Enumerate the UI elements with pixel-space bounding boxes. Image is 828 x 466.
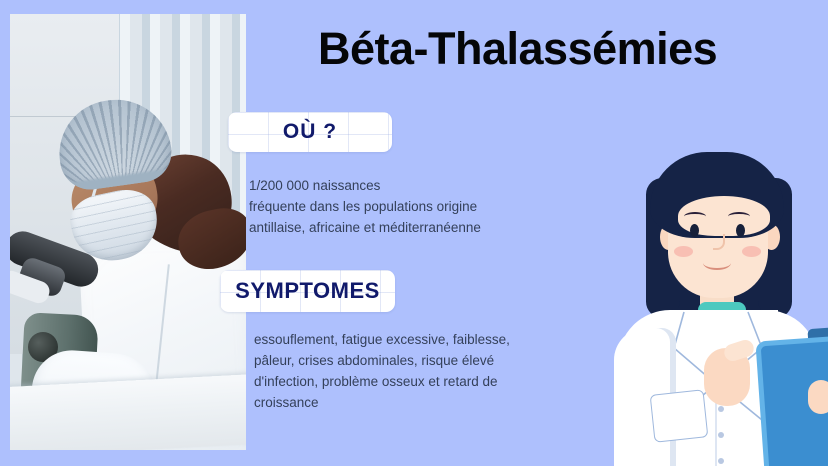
section-text-ou: 1/200 000 naissances fréquente dans les … [249, 176, 549, 239]
doctor-thumb [808, 380, 828, 414]
section-label-symptomes: SYMPTOMES [220, 270, 395, 312]
lab-scientist-photo [10, 14, 246, 450]
section-label-symptomes-text: SYMPTOMES [235, 278, 380, 304]
section-text-symptomes: essouflement, fatigue excessive, faibles… [254, 330, 554, 414]
page-title: Béta-Thalassémies [318, 24, 818, 74]
section-label-ou: OÙ ? [228, 112, 392, 152]
photo-hair-net-cap [53, 93, 176, 194]
section-label-ou-text: OÙ ? [283, 120, 337, 144]
female-doctor-illustration [612, 152, 828, 466]
photo-lab-table [10, 373, 246, 450]
doctor-sleeve-cuff [650, 389, 709, 442]
slide-canvas: Béta-Thalassémies OÙ ? 1/200 000 naissan… [0, 0, 828, 466]
